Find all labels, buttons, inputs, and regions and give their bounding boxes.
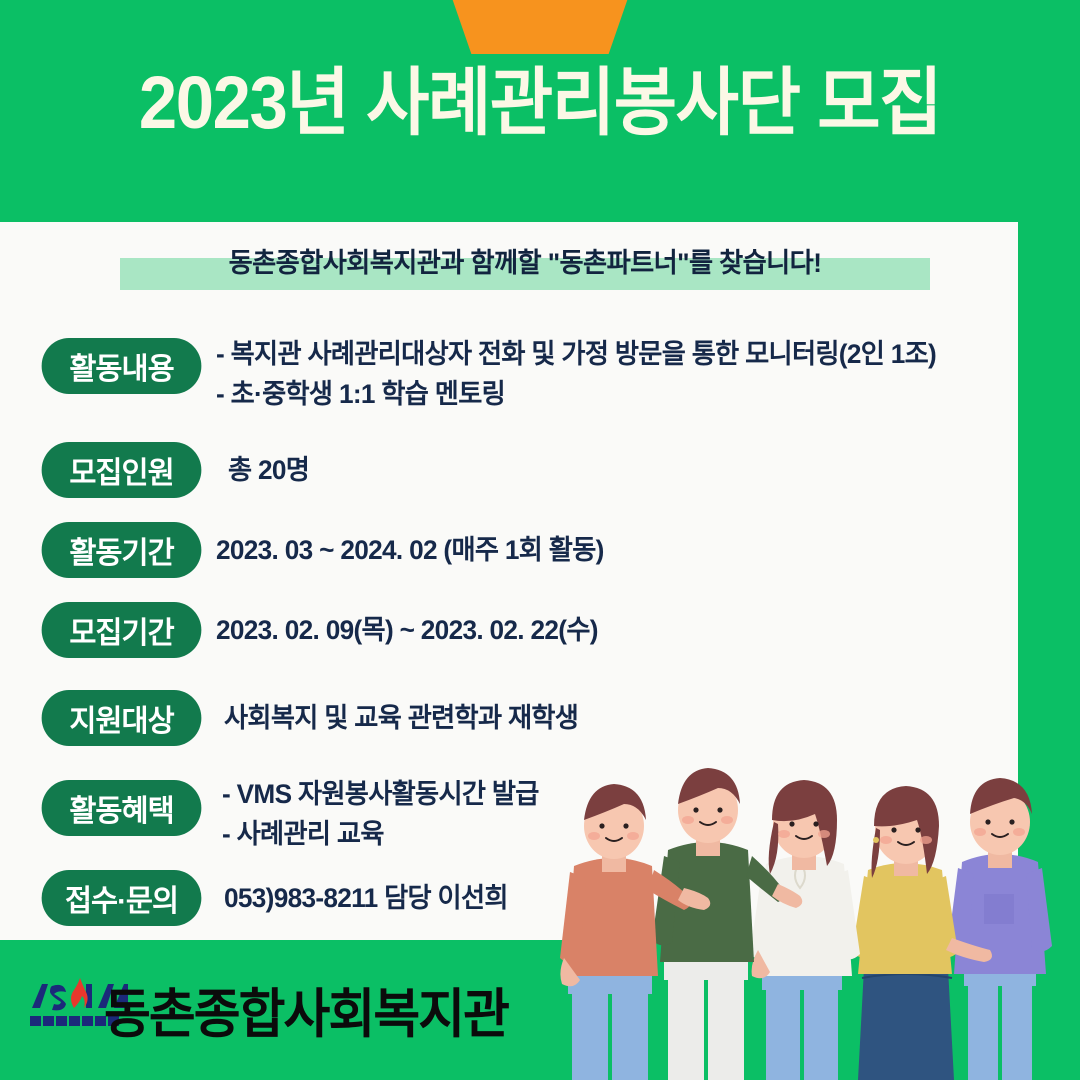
- row-content-line: - 초·중학생 1:1 학습 멘토링: [216, 374, 936, 414]
- row-content-line: 2023. 02. 09(목) ~ 2023. 02. 22(수): [216, 610, 598, 650]
- row-content-line: 총 20명: [228, 450, 309, 490]
- row-content-line: - 복지관 사례관리대상자 전화 및 가정 방문을 통한 모니터링(2인 1조): [216, 334, 936, 374]
- row-content: 2023. 03 ~ 2024. 02 (매주 1회 활동): [216, 530, 604, 570]
- row-label-badge: 지원대상: [42, 690, 202, 746]
- row-content-line: - VMS 자원봉사활동시간 발급: [222, 774, 539, 814]
- info-row: 활동내용 - 복지관 사례관리대상자 전화 및 가정 방문을 통한 모니터링(2…: [0, 326, 1018, 432]
- row-label-badge: 모집인원: [42, 442, 202, 498]
- info-row: 모집인원 총 20명: [0, 432, 1018, 512]
- row-content-line: 053)983-8211 담당 이선희: [224, 878, 508, 918]
- info-row: 활동기간 2023. 03 ~ 2024. 02 (매주 1회 활동): [0, 512, 1018, 592]
- row-content-line: - 사례관리 교육: [222, 814, 539, 854]
- row-label-badge: 활동기간: [42, 522, 202, 578]
- subtitle: 동촌종합사회복지관과 함께할 "동촌파트너"를 찾습니다!: [132, 241, 918, 280]
- row-content: 사회복지 및 교육 관련학과 재학생: [224, 698, 578, 738]
- poster-header: 2023년 사례관리봉사단 모집: [0, 0, 1080, 222]
- row-content: 053)983-8211 담당 이선희: [224, 878, 508, 918]
- row-content-line: 사회복지 및 교육 관련학과 재학생: [224, 698, 578, 738]
- info-row: 모집기간 2023. 02. 09(목) ~ 2023. 02. 22(수): [0, 592, 1018, 676]
- poster-root: 2023년 사례관리봉사단 모집 동촌종합사회복지관과 함께할 "동촌파트너"를…: [0, 0, 1080, 1080]
- row-label-badge: 활동내용: [42, 338, 202, 394]
- page-title: 2023년 사례관리봉사단 모집: [38, 66, 1042, 140]
- row-label-badge: 접수·문의: [42, 870, 202, 926]
- row-content: 2023. 02. 09(목) ~ 2023. 02. 22(수): [216, 610, 598, 650]
- organization-name: 동촌종합사회복지관: [104, 972, 508, 1048]
- row-content: 총 20명: [228, 450, 309, 490]
- row-label-badge: 모집기간: [42, 602, 202, 658]
- row-label-badge: 활동혜택: [42, 780, 202, 836]
- row-content: - VMS 자원봉사활동시간 발급 - 사례관리 교육: [222, 774, 539, 854]
- row-content-line: 2023. 03 ~ 2024. 02 (매주 1회 활동): [216, 530, 604, 570]
- row-content: - 복지관 사례관리대상자 전화 및 가정 방문을 통한 모니터링(2인 1조)…: [216, 334, 936, 414]
